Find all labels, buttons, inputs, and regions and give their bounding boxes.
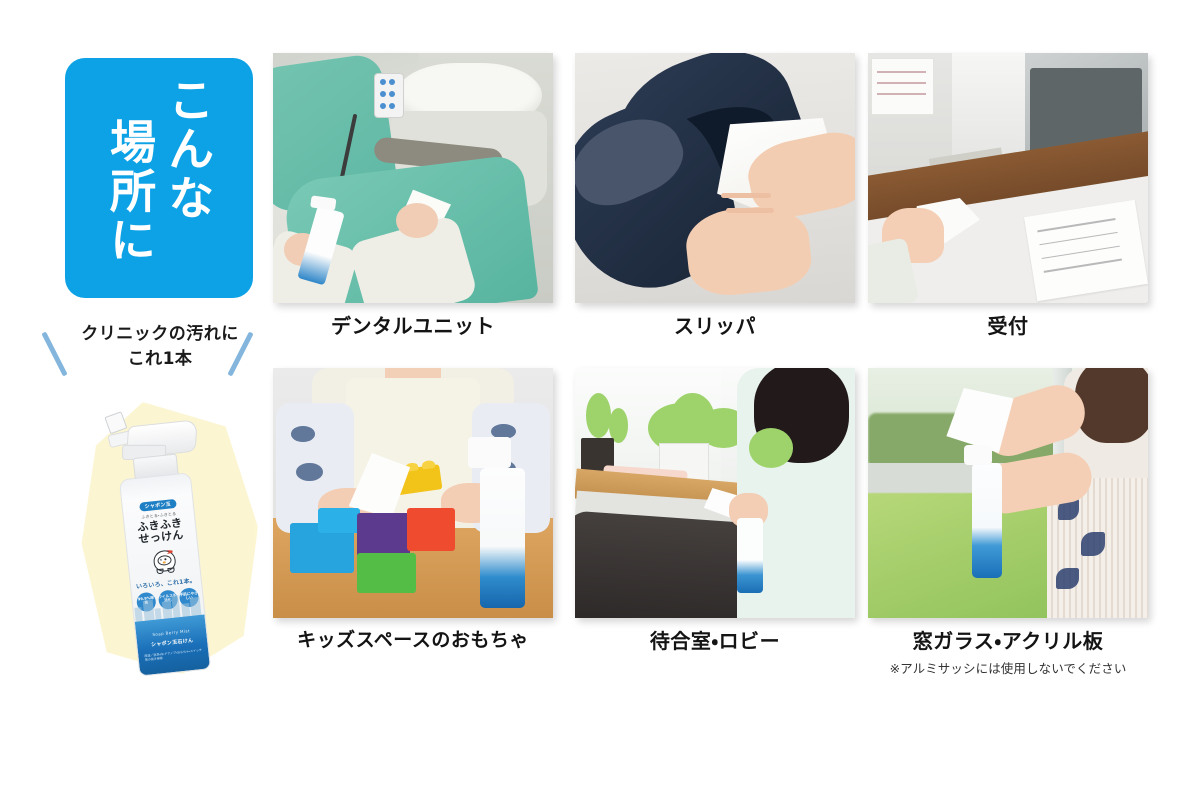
grid-cell: 窓ガラス・アクリル板 ※アルミサッシには使用しないでください bbox=[868, 368, 1148, 677]
badge-text-column-left: 場所に bbox=[103, 118, 157, 265]
label-bottom-band: Soap Berry Mist シャボン玉石けん 用途／家具・床・ドアノブ・おも… bbox=[135, 615, 210, 676]
tagline: クリニックの汚れに これ1本 bbox=[40, 322, 280, 371]
tagline-line-2: これ1本 bbox=[40, 347, 280, 372]
caption-reception: 受付 bbox=[868, 314, 1148, 338]
grid-cell: デンタルユニット bbox=[273, 53, 553, 338]
window-glass-note: ※アルミサッシには使用しないでください bbox=[868, 658, 1148, 677]
label-footer-note: 用途／家具・床・ドアノブ・おもちゃ・スイッチ等の拭き掃除 bbox=[144, 649, 202, 663]
bottle-body: シャボン玉 ふきとる・ふきとる ふきふき せっけん いろいろ、これ1本。 99.… bbox=[119, 472, 211, 676]
reception-photo bbox=[868, 53, 1148, 303]
kids-toys-photo bbox=[273, 368, 553, 618]
dental-unit-photo bbox=[273, 53, 553, 303]
brand-logo: シャボン玉 bbox=[139, 499, 176, 512]
caption-kids-toys: キッズスペースのおもちゃ bbox=[273, 629, 553, 652]
poster-canvas: こんな 場所に クリニックの汚れに これ1本 シャボン玉 ふきとる・ふきとる bbox=[0, 0, 1200, 800]
section-heading-badge: こんな 場所に bbox=[65, 58, 253, 298]
badge-text-column-right: こんな bbox=[161, 76, 215, 223]
window-glass-photo bbox=[868, 368, 1148, 618]
grid-cell: 待合室・ロビー bbox=[575, 368, 855, 653]
caption-slippers: スリッパ bbox=[575, 314, 855, 338]
caption-dental-unit: デンタルユニット bbox=[273, 314, 553, 338]
caption-window-glass: 窓ガラス・アクリル板 bbox=[868, 629, 1148, 653]
caption-waiting-room: 待合室・ロビー bbox=[575, 629, 855, 653]
penguin-mascot-icon bbox=[149, 547, 178, 576]
photo-grid: デンタルユニット スリッパ bbox=[273, 53, 1157, 673]
badge-vertical-text: こんな 場所に bbox=[65, 58, 253, 298]
tagline-line-1: クリニックの汚れに bbox=[81, 324, 239, 344]
grid-cell: キッズスペースのおもちゃ bbox=[273, 368, 553, 652]
grid-cell: 受付 bbox=[868, 53, 1148, 338]
bottle-shoulder bbox=[120, 473, 192, 502]
waiting-room-photo bbox=[575, 368, 855, 618]
slippers-photo bbox=[575, 53, 855, 303]
product-bottle: シャボン玉 ふきとる・ふきとる ふきふき せっけん いろいろ、これ1本。 99.… bbox=[68, 392, 268, 682]
grid-cell: スリッパ bbox=[575, 53, 855, 338]
